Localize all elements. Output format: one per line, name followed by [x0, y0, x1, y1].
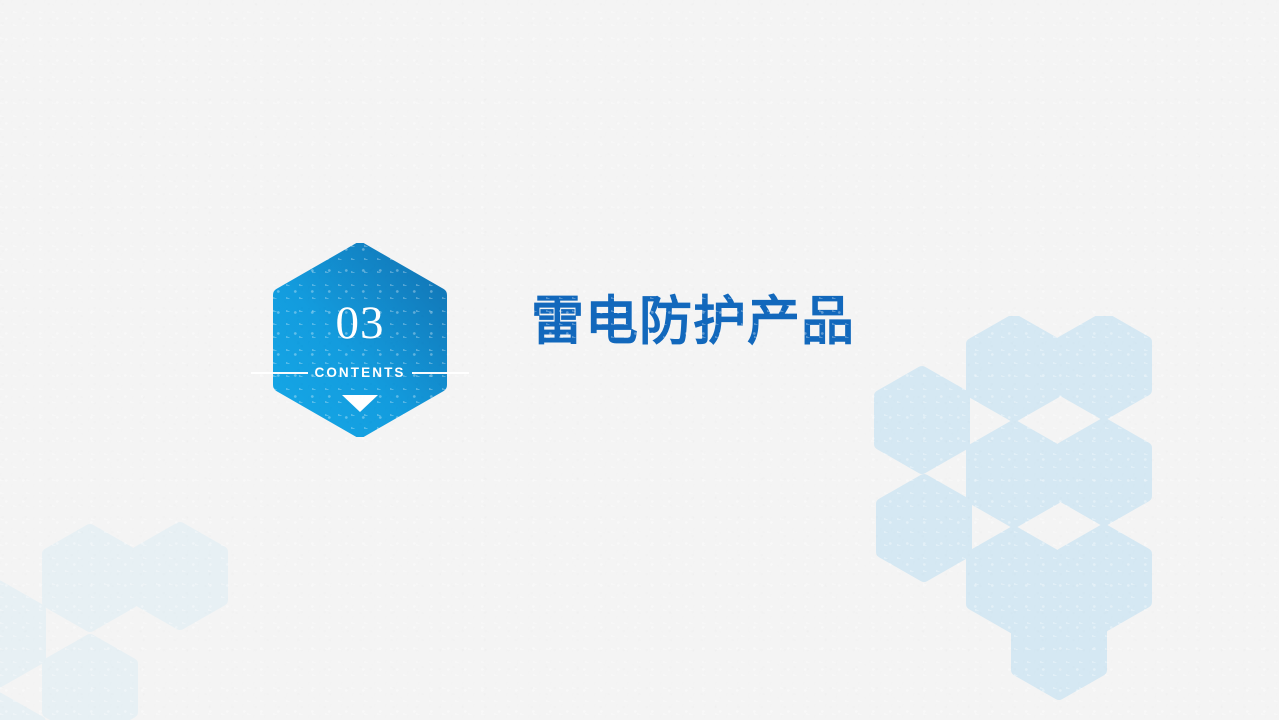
badge-rule-right [412, 372, 469, 374]
badge-content: 03 CONTENTS [267, 243, 453, 437]
badge-rule-left [251, 372, 308, 374]
badge-number: 03 [336, 300, 385, 347]
badge-contents-label: CONTENTS [308, 365, 411, 380]
honeycomb-decoration-left [0, 516, 278, 720]
honeycomb-decoration-right [862, 316, 1222, 716]
page-title: 雷电防护产品 [531, 292, 855, 352]
section-number-badge: 03 CONTENTS [267, 243, 453, 437]
triangle-down-icon [342, 395, 378, 412]
badge-contents-row: CONTENTS [251, 365, 469, 380]
slide-canvas: 03 CONTENTS 雷电防护产品 [0, 0, 1279, 720]
